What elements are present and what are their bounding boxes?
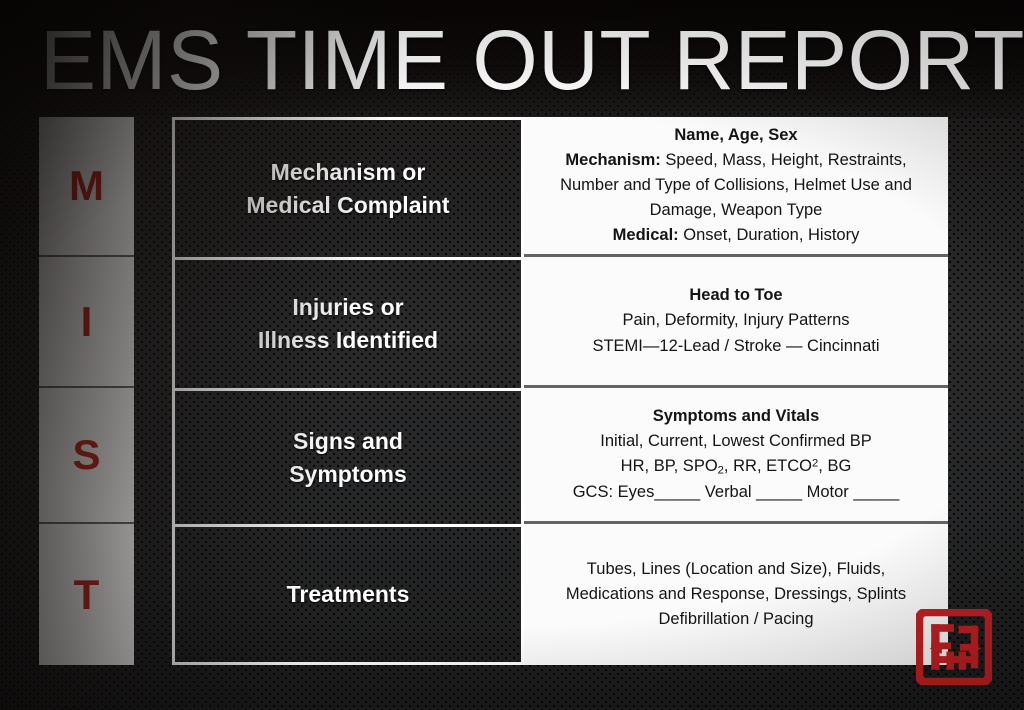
detail-line-vitals: HR, BP, SPO2, RR, ETCO2, BG xyxy=(621,454,852,480)
detail-line: Tubes, Lines (Location and Size), Fluids… xyxy=(587,557,885,582)
category-heading-line2: Illness Identified xyxy=(258,324,438,357)
category-heading-mechanism: Mechanism or Medical Complaint xyxy=(172,117,524,257)
detail-cell-signs: Symptoms and Vitals Initial, Current, Lo… xyxy=(524,388,948,524)
category-heading-line2: Medical Complaint xyxy=(246,189,449,222)
detail-line: Defibrillation / Pacing xyxy=(659,607,814,632)
detail-cell-treatments: Tubes, Lines (Location and Size), Fluids… xyxy=(524,524,948,665)
detail-cell-mechanism: Name, Age, Sex Mechanism: Speed, Mass, H… xyxy=(524,117,948,257)
mist-letter-cell-m: M xyxy=(39,117,134,257)
mist-letter-s: S xyxy=(72,434,100,476)
detail-line: Medications and Response, Dressings, Spl… xyxy=(566,582,906,607)
detail-line-text: Speed, Mass, Height, Restraints, xyxy=(661,151,907,169)
detail-line-lead: Medical: xyxy=(613,226,679,244)
category-heading-line2: Symptoms xyxy=(289,458,407,491)
detail-line: STEMI—12-Lead / Stroke — Cincinnati xyxy=(592,334,879,359)
category-heading-line1: Injuries or xyxy=(258,291,438,324)
detail-line: Initial, Current, Lowest Confirmed BP xyxy=(600,429,871,454)
category-heading-line1: Signs and xyxy=(289,425,407,458)
category-heading-signs: Signs and Symptoms xyxy=(172,388,524,524)
page-title: EMS TIME OUT REPORT xyxy=(40,16,984,104)
category-heading-line1: Treatments xyxy=(287,578,410,611)
mist-letter-cell-t: T xyxy=(39,524,134,665)
category-heading-injuries: Injuries or Illness Identified xyxy=(172,257,524,388)
detail-line: Pain, Deformity, Injury Patterns xyxy=(622,308,849,333)
detail-cell-injuries: Head to Toe Pain, Deformity, Injury Patt… xyxy=(524,257,948,388)
mist-letter-column: M I S T xyxy=(39,117,134,665)
detail-title: Symptoms and Vitals xyxy=(653,404,820,429)
detail-line: Damage, Weapon Type xyxy=(650,198,823,223)
detail-line: Mechanism: Speed, Mass, Height, Restrain… xyxy=(565,148,906,173)
mist-letter-cell-s: S xyxy=(39,388,134,524)
category-heading-treatments: Treatments xyxy=(172,524,524,665)
mist-letter-i: I xyxy=(81,301,93,343)
mist-letter-t: T xyxy=(74,574,100,616)
detail-title: Name, Age, Sex xyxy=(674,123,797,148)
category-heading-line1: Mechanism or xyxy=(246,156,449,189)
square-emblem-logo xyxy=(916,609,992,685)
mist-letter-m: M xyxy=(69,165,104,207)
mist-letter-cell-i: I xyxy=(39,257,134,388)
detail-line: Medical: Onset, Duration, History xyxy=(613,223,860,248)
detail-line-gcs: GCS: Eyes_____ Verbal _____ Motor _____ xyxy=(573,480,900,505)
category-heading-column: Mechanism or Medical Complaint Injuries … xyxy=(172,117,524,665)
detail-line-text: Onset, Duration, History xyxy=(679,226,860,244)
detail-line-lead: Mechanism: xyxy=(565,151,660,169)
detail-line: Number and Type of Collisions, Helmet Us… xyxy=(560,173,912,198)
detail-title: Head to Toe xyxy=(689,283,782,308)
report-canvas: EMS TIME OUT REPORT M I S T Mechanism or… xyxy=(0,0,1024,710)
detail-column: Name, Age, Sex Mechanism: Speed, Mass, H… xyxy=(524,117,948,665)
